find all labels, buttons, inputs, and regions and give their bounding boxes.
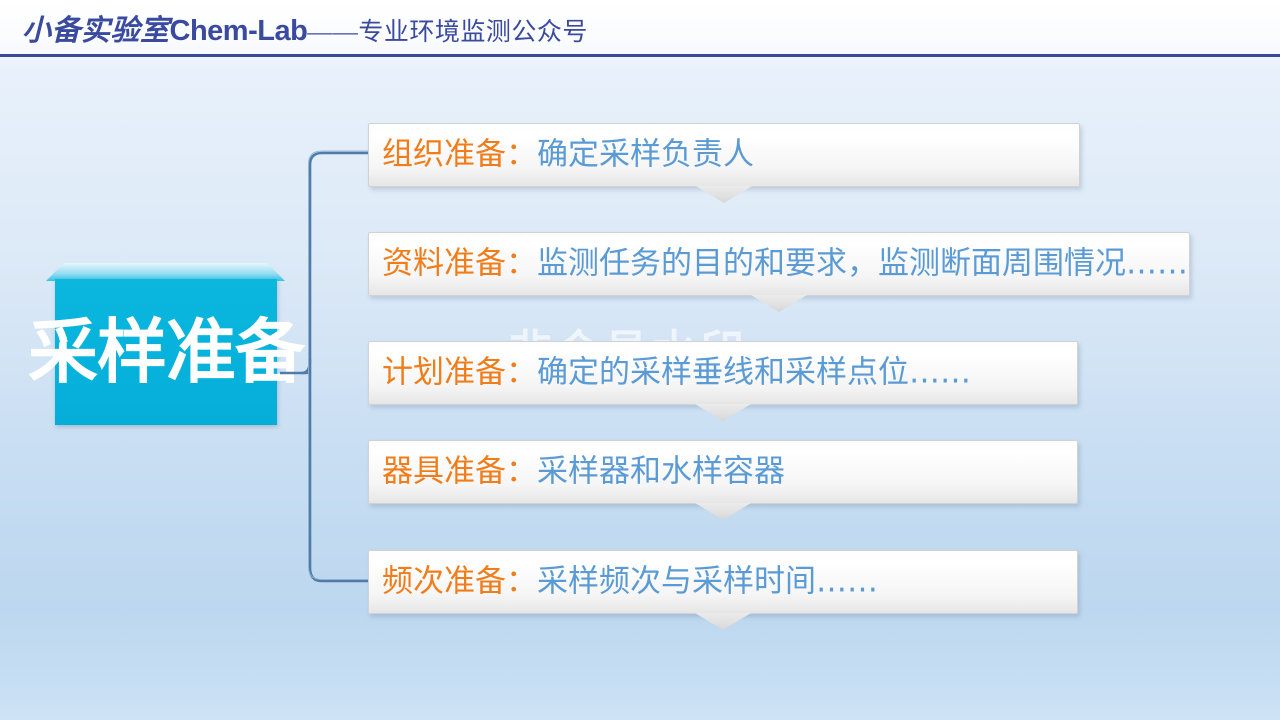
chevron-down-icon xyxy=(695,503,751,520)
node-value: 确定的采样垂线和采样点位…… xyxy=(537,355,971,391)
node-key: 频次准备 xyxy=(382,564,506,600)
chevron-down-icon xyxy=(751,295,807,312)
title-dash: —— xyxy=(307,19,358,46)
node-key: 器具准备 xyxy=(382,454,506,490)
node-value: 采样器和水样容器 xyxy=(537,454,785,490)
node-text: 频次准备：采样频次与采样时间…… xyxy=(382,567,878,598)
node-text: 资料准备：监测任务的目的和要求，监测断面周围情况…… xyxy=(382,249,1188,280)
chevron-down-icon xyxy=(696,186,752,203)
list-item[interactable]: 器具准备：采样器和水样容器 xyxy=(368,440,1078,504)
node-value: 采样频次与采样时间…… xyxy=(537,564,878,600)
node-separator: ： xyxy=(506,355,537,391)
node-key: 资料准备 xyxy=(382,246,506,282)
header-divider xyxy=(0,54,1280,57)
page-title: 小备实验室Chem-Lab——专业环境监测公众号 xyxy=(22,7,588,49)
node-separator: ： xyxy=(506,454,537,490)
node-text: 计划准备：确定的采样垂线和采样点位…… xyxy=(382,358,971,389)
chevron-down-icon xyxy=(695,613,751,630)
node-separator: ： xyxy=(506,137,537,173)
list-item[interactable]: 资料准备：监测任务的目的和要求，监测断面周围情况…… xyxy=(368,232,1190,296)
node-value: 确定采样负责人 xyxy=(537,137,754,173)
list-item[interactable]: 频次准备：采样频次与采样时间…… xyxy=(368,550,1078,614)
title-subtitle: 专业环境监测公众号 xyxy=(358,19,588,46)
root-node-label: 采样准备 xyxy=(55,283,277,421)
brand-name-cn: 小备实验室 xyxy=(22,15,170,47)
list-item[interactable]: 计划准备：确定的采样垂线和采样点位…… xyxy=(368,341,1078,405)
header-band: 小备实验室Chem-Lab——专业环境监测公众号 xyxy=(0,0,1280,56)
node-text: 组织准备：确定采样负责人 xyxy=(382,140,754,171)
brand-name-latin: Chem-Lab xyxy=(170,15,308,47)
node-key: 组织准备 xyxy=(382,137,506,173)
slide-canvas: 小备实验室Chem-Lab——专业环境监测公众号 非会员水印 采样准备 组织准备… xyxy=(0,0,1280,720)
list-item[interactable]: 组织准备：确定采样负责人 xyxy=(368,123,1080,187)
node-value: 监测任务的目的和要求，监测断面周围情况…… xyxy=(537,246,1188,282)
root-node: 采样准备 xyxy=(46,263,285,425)
node-separator: ： xyxy=(506,564,537,600)
node-separator: ： xyxy=(506,246,537,282)
node-key: 计划准备 xyxy=(382,355,506,391)
chevron-down-icon xyxy=(695,404,751,421)
node-text: 器具准备：采样器和水样容器 xyxy=(382,457,785,488)
